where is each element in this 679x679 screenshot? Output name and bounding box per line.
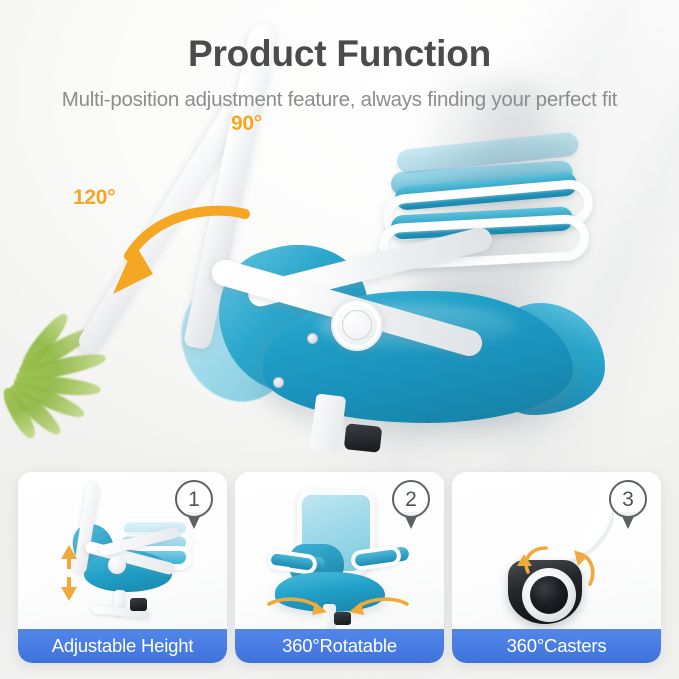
feature-image-adjustable-height: 1 <box>18 472 227 629</box>
page-title: Product Function <box>0 0 679 72</box>
feature-card-casters[interactable]: 3 360°Casters <box>452 472 661 663</box>
angle-label-120: 120° <box>73 186 115 210</box>
feature-card-rotatable[interactable]: 2 360°Rotatable <box>235 472 444 663</box>
angle-label-90: 90° <box>231 112 262 136</box>
rotation-arrows-icon <box>253 592 423 626</box>
recline-arc-arrow-icon <box>95 200 265 310</box>
feature-image-casters: 3 <box>452 472 661 629</box>
recline-pivot-hub <box>331 299 383 351</box>
feature-label-1: Adjustable Height <box>18 629 227 663</box>
feature-label-2: 360°Rotatable <box>235 629 444 663</box>
vertical-double-arrow-icon <box>58 544 80 602</box>
feature-image-rotatable: 2 <box>235 472 444 629</box>
main-product-image <box>0 95 679 485</box>
badge-number-3: 3 <box>609 480 647 518</box>
badge-number-1: 1 <box>175 480 213 518</box>
feature-badge-2: 2 <box>392 480 432 532</box>
rotation-arrows-icon <box>494 542 624 594</box>
feature-badge-3: 3 <box>609 480 649 532</box>
feature-label-3: 360°Casters <box>452 629 661 663</box>
feature-badge-1: 1 <box>175 480 215 532</box>
page-subtitle: Multi-position adjustment feature, alway… <box>0 72 679 112</box>
feature-cards-row: 1 Adjustable Height <box>0 472 679 667</box>
infographic-canvas: Product Function Multi-position adjustme… <box>0 0 679 679</box>
gas-lift-post <box>310 393 347 452</box>
mini-pivot <box>108 556 126 574</box>
badge-number-2: 2 <box>392 480 430 518</box>
header-block: Product Function Multi-position adjustme… <box>0 0 679 112</box>
caster-base <box>344 423 383 453</box>
feature-card-adjustable-height[interactable]: 1 Adjustable Height <box>18 472 227 663</box>
